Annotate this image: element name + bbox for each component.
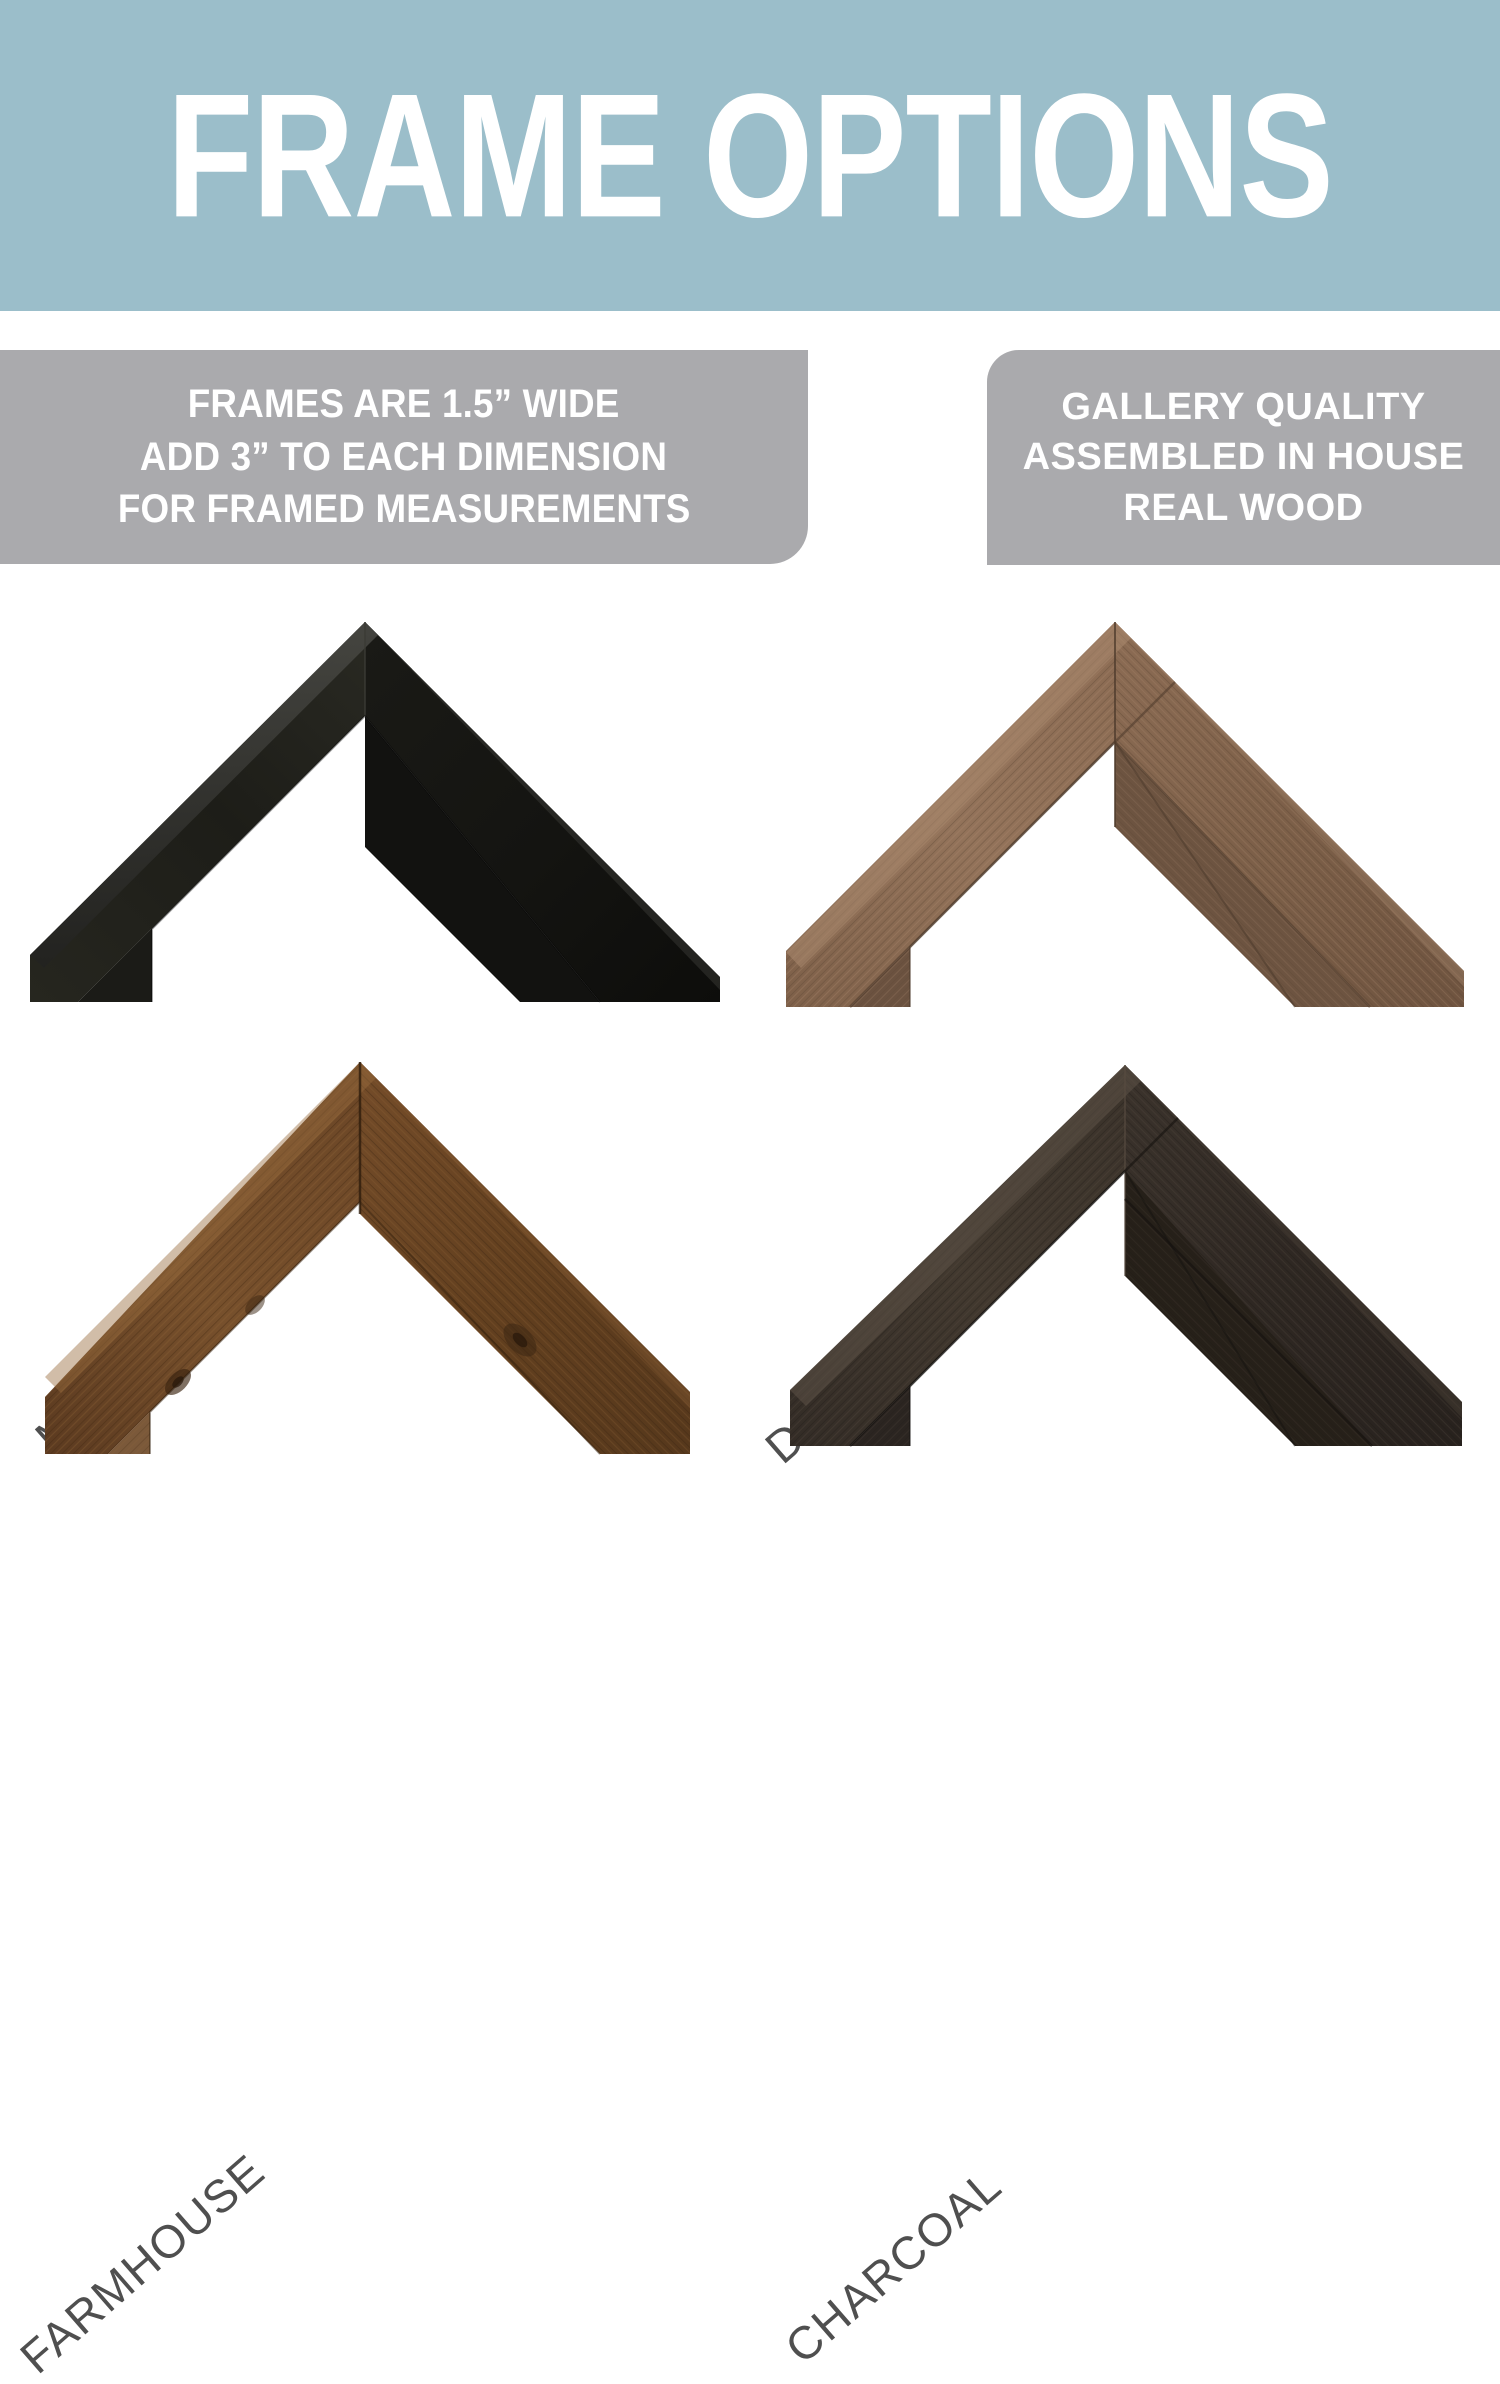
frame-corner-farmhouse (0, 1040, 750, 1510)
info-line-quality-3: REAL WOOD (1123, 483, 1363, 534)
frame-label-charcoal: CHARCOAL (775, 2158, 1012, 2374)
info-box-quality: GALLERY QUALITY ASSEMBLED IN HOUSE REAL … (987, 350, 1500, 565)
frame-corner-midnight (0, 590, 750, 1060)
frame-corner-charcoal (750, 1040, 1500, 1510)
frame-sample-midnight[interactable]: MIDNIGHT (0, 590, 750, 1060)
info-box-measurements: FRAMES ARE 1.5” WIDE ADD 3” TO EACH DIME… (0, 350, 808, 564)
info-line-measurements-3: FOR FRAMED MEASUREMENTS (118, 483, 691, 536)
info-line-quality-2: ASSEMBLED IN HOUSE (1023, 432, 1465, 483)
frame-corner-driftwood (750, 590, 1500, 1060)
frame-sample-driftwood[interactable]: DRIFTWOOD (750, 590, 1500, 1060)
page-title: FRAME OPTIONS (167, 67, 1333, 243)
frame-label-farmhouse: FARMHOUSE (10, 2143, 276, 2384)
header-banner: FRAME OPTIONS (0, 0, 1500, 311)
frame-sample-charcoal[interactable]: CHARCOAL (750, 1040, 1500, 1510)
info-line-measurements-1: FRAMES ARE 1.5” WIDE (188, 378, 620, 431)
info-line-measurements-2: ADD 3” TO EACH DIMENSION (140, 431, 667, 484)
info-line-quality-1: GALLERY QUALITY (1061, 382, 1425, 433)
frame-sample-farmhouse[interactable]: FARMHOUSE (0, 1040, 750, 1510)
